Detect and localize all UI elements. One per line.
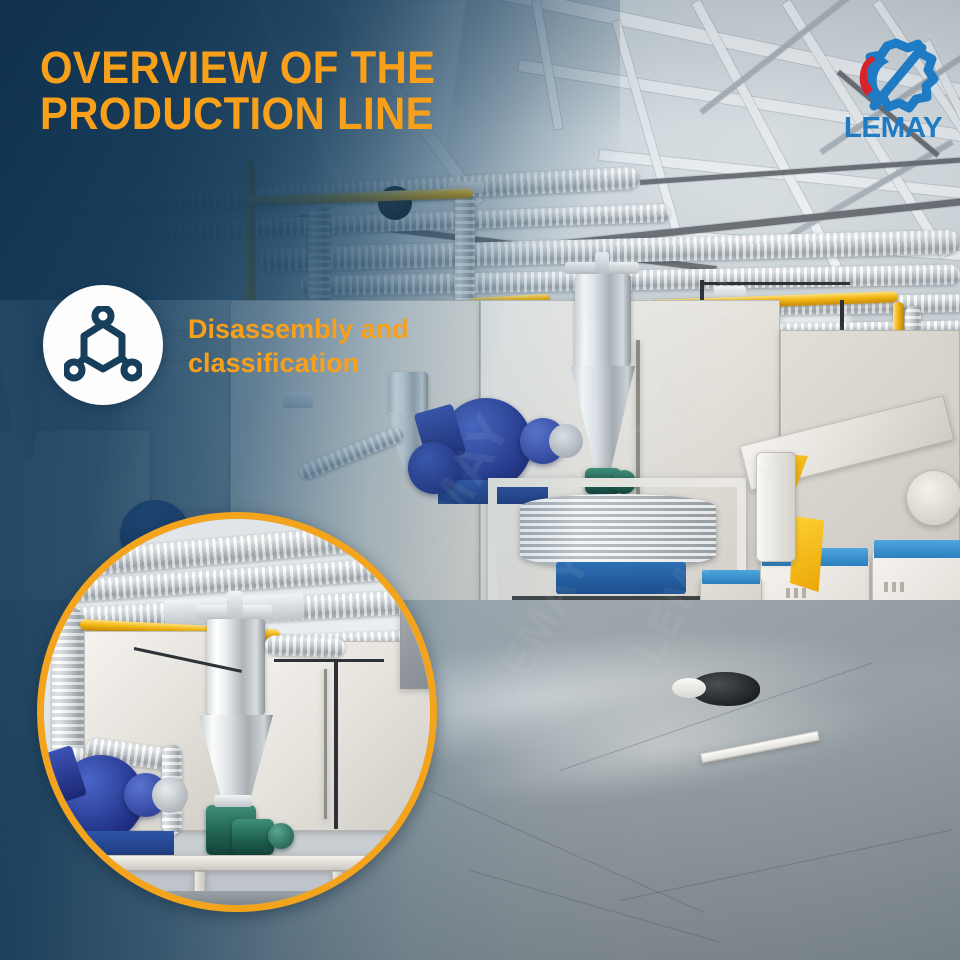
molecule-network-icon <box>64 306 142 384</box>
feature-label: Disassembly and classification <box>188 312 488 380</box>
closeup-panel-seam <box>324 669 327 819</box>
feature-label-line-1: Disassembly and <box>188 312 488 346</box>
feature-icon-badge <box>43 285 163 405</box>
closeup-base-frame <box>64 855 394 871</box>
page-title: OVERVIEW OF THE PRODUCTION LINE <box>40 45 561 137</box>
banner-canvas: LEMAY LEMAY LEMAY LEMAY LEMAY LEMAY <box>0 0 960 960</box>
closeup-conduit-horizontal <box>274 659 384 662</box>
closeup-conduit-vertical <box>334 659 338 829</box>
page-title-line-2: PRODUCTION LINE <box>40 91 561 137</box>
brand-logo: LEMAY <box>838 34 950 150</box>
brand-wordmark: LEMAY <box>829 112 958 145</box>
closeup-right-machine <box>400 519 430 689</box>
page-title-line-1: OVERVIEW OF THE <box>40 45 561 91</box>
closeup-scene <box>44 519 430 905</box>
gear-ring-logo-icon <box>838 34 950 120</box>
detail-closeup-circle <box>37 512 437 912</box>
closeup-floor <box>44 891 430 905</box>
feature-label-line-2: classification <box>188 346 488 380</box>
